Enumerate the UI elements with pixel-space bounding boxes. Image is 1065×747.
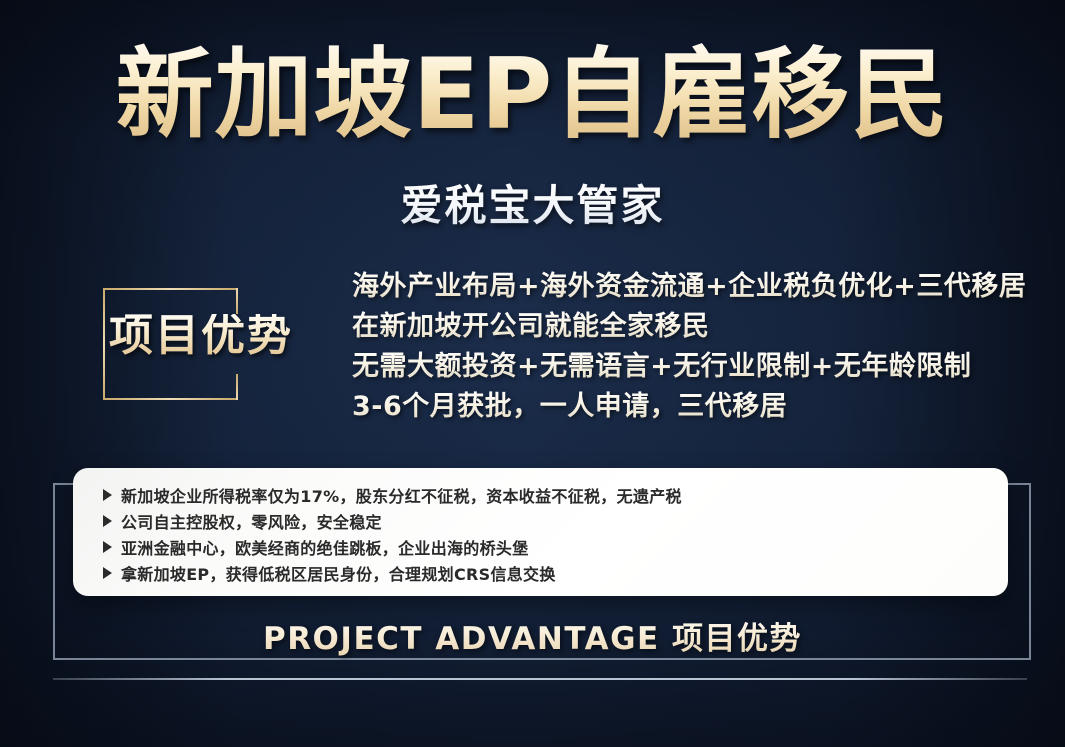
page-title: 新加坡EP自雇移民 [0, 42, 1065, 150]
feature-line: 3-6个月获批，一人申请，三代移居 [352, 388, 1042, 425]
decorative-divider-line [53, 678, 1027, 680]
list-item-label: 新加坡企业所得税率仅为17%，股东分红不征税，资本收益不征税，无遗产税 [121, 483, 682, 507]
feature-list: 海外产业布局+海外资金流通+企业税负优化+三代移居 在新加坡开公司就能全家移民 … [352, 268, 1042, 428]
feature-line: 在新加坡开公司就能全家移民 [352, 308, 1042, 345]
badge-frame-top [103, 288, 238, 290]
page-subtitle: 爱税宝大管家 [0, 172, 1065, 233]
badge-frame-bottom [103, 398, 238, 400]
footer-caption: PROJECT ADVANTAGE 项目优势 [0, 613, 1065, 658]
feature-line: 海外产业布局+海外资金流通+企业税负优化+三代移居 [352, 268, 1042, 305]
list-item-label: 拿新加坡EP，获得低税区居民身份，合理规划CRS信息交换 [121, 561, 556, 585]
triangle-bullet-icon [103, 489, 112, 501]
list-item-label: 亚洲金融中心，欧美经商的绝佳跳板，企业出海的桥头堡 [121, 535, 529, 559]
list-item: 拿新加坡EP，获得低税区居民身份，合理规划CRS信息交换 [73, 560, 1008, 586]
badge-frame-right-lower [236, 374, 238, 400]
project-advantage-badge: 项目优势 [103, 288, 238, 400]
triangle-bullet-icon [103, 515, 112, 527]
poster-root: 新加坡EP自雇移民 爱税宝大管家 项目优势 海外产业布局+海外资金流通+企业税负… [0, 0, 1065, 747]
triangle-bullet-icon [103, 567, 112, 579]
feature-line: 无需大额投资+无需语言+无行业限制+无年龄限制 [352, 348, 1042, 385]
benefits-card: 新加坡企业所得税率仅为17%，股东分红不征税，资本收益不征税，无遗产税 公司自主… [73, 468, 1008, 596]
list-item: 新加坡企业所得税率仅为17%，股东分红不征税，资本收益不征税，无遗产税 [73, 482, 1008, 508]
triangle-bullet-icon [103, 541, 112, 553]
badge-frame-left [103, 288, 105, 400]
badge-label: 项目优势 [109, 314, 293, 358]
list-item: 亚洲金融中心，欧美经商的绝佳跳板，企业出海的桥头堡 [73, 534, 1008, 560]
list-item: 公司自主控股权，零风险，安全稳定 [73, 508, 1008, 534]
list-item-label: 公司自主控股权，零风险，安全稳定 [121, 509, 382, 533]
